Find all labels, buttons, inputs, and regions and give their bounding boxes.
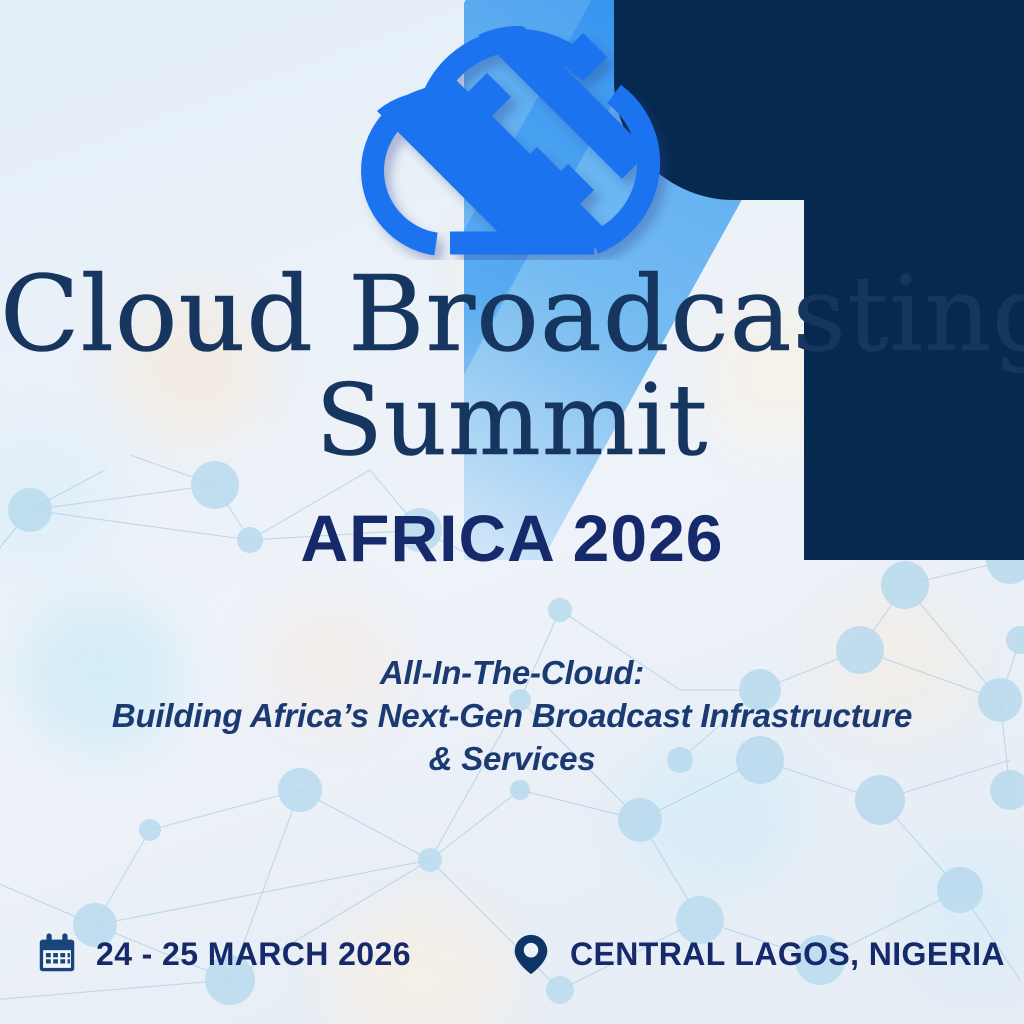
poster-footer: 24 - 25 MARCH 2026 CENTRAL LAGOS, NIGERI… [0,926,1024,982]
event-date-text: 24 - 25 MARCH 2026 [96,936,411,973]
tagline-line-2: Building Africa’s Next-Gen Broadcast Inf… [46,695,978,738]
event-location-text: CENTRAL LAGOS, NIGERIA [570,936,1005,973]
event-title-line-1: Cloud Broadcasting [0,262,1024,366]
event-subtitle: AFRICA 2026 [0,505,1024,571]
event-poster: Cloud Broadcasting Summit AFRICA 2026 Al… [0,0,1024,1024]
event-tagline: All-In-The-Cloud: Building Africa’s Next… [46,652,978,781]
tagline-line-3: & Services [46,738,978,781]
event-title-line-2: Summit [0,372,1024,470]
tagline-line-1: All-In-The-Cloud: [46,652,978,695]
cloud-broadcasting-logo [332,12,692,260]
event-location-block: CENTRAL LAGOS, NIGERIA [508,926,1005,982]
event-date-block: 24 - 25 MARCH 2026 [34,926,411,982]
map-pin-icon [508,931,554,977]
calendar-icon [34,931,80,977]
